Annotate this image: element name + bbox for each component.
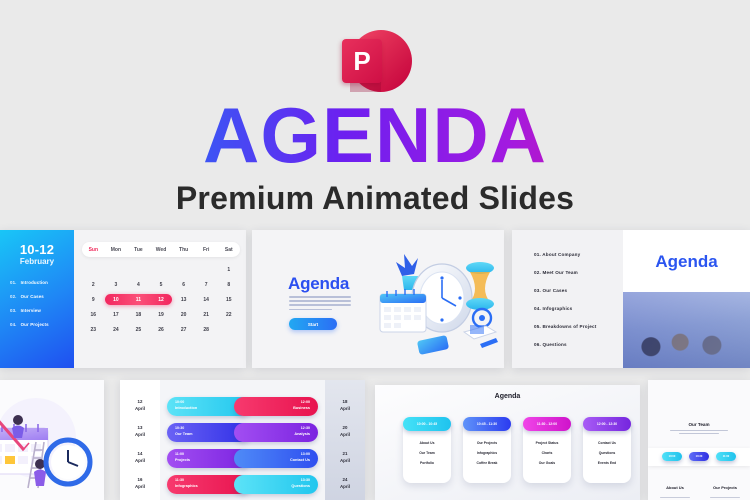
- calendar-agenda-list: 01. Introduction 02. Our Cases 03. Inter…: [10, 280, 74, 336]
- item-label: Introduction: [21, 280, 48, 285]
- card-time-header: 12:00 - 12:30: [583, 417, 631, 431]
- powerpoint-tab: P: [342, 39, 382, 83]
- day-cell[interactable]: 15: [217, 297, 240, 303]
- agenda-card[interactable]: 11:30 - 12:00 Project Status Charts Our …: [523, 421, 571, 483]
- card-item[interactable]: Questions: [583, 451, 631, 455]
- team-footer-item[interactable]: Our Projects: [704, 476, 746, 500]
- item-number: 02.: [10, 294, 17, 299]
- timeline-row[interactable]: 13:00 Contact Us 21 April: [120, 446, 365, 470]
- day-cell[interactable]: 5: [150, 282, 173, 288]
- team-pill[interactable]: 10:00: [662, 452, 682, 461]
- list-item[interactable]: 05. Breakdowns of Project: [534, 324, 596, 329]
- day-cell-selected[interactable]: 10: [105, 297, 128, 303]
- timeline-date: 21 April: [325, 451, 365, 464]
- date-month: April: [340, 484, 350, 489]
- weekday-sun: Sun: [82, 247, 105, 253]
- timeline-date: 18 April: [325, 399, 365, 412]
- agenda-items-list: 01. About Company 02. Meet Our Team 03. …: [534, 252, 596, 360]
- calendar-week-row: 23 24 25 26 27 28: [82, 322, 240, 337]
- calendar-panel: Sun Mon Tue Wed Thu Fri Sat 1: [74, 230, 246, 368]
- calendar-icon: [380, 289, 426, 332]
- day-cell[interactable]: 21: [195, 312, 218, 318]
- day-cell[interactable]: 7: [195, 282, 218, 288]
- clock-icon: [46, 440, 90, 484]
- month-label: February: [0, 257, 74, 266]
- item-label: Our Projects: [21, 322, 49, 327]
- list-item[interactable]: 02. Our Cases: [10, 294, 74, 299]
- list-item[interactable]: 04. Our Projects: [10, 322, 74, 327]
- agenda-list-slide[interactable]: 01. About Company 02. Meet Our Team 03. …: [512, 230, 750, 368]
- day-cell[interactable]: 9: [82, 297, 105, 303]
- calendar-slide-sidebar: 10-12 February 01. Introduction 02. Our …: [0, 230, 74, 368]
- day-cell[interactable]: 18: [127, 312, 150, 318]
- footer-label: Our Projects: [713, 485, 737, 490]
- pen-icon: [480, 338, 498, 348]
- our-team-slide[interactable]: Our Team 10:00 10:30 11:00 About Us Our …: [648, 380, 750, 500]
- card-item[interactable]: About Us: [403, 441, 451, 445]
- item-number: 03.: [10, 308, 17, 313]
- timeline-row[interactable]: 13:30 Questions 24 April: [120, 472, 365, 496]
- day-cell[interactable]: 14: [195, 297, 218, 303]
- day-cell[interactable]: 19: [150, 312, 173, 318]
- date-month: April: [340, 406, 350, 411]
- list-item[interactable]: 01. Introduction: [10, 280, 74, 285]
- timeline-label: Contact Us: [290, 458, 310, 462]
- card-item[interactable]: Events End: [583, 461, 631, 465]
- weekday-sat: Sat: [217, 247, 240, 253]
- day-cell[interactable]: 8: [217, 282, 240, 288]
- date-month: April: [340, 432, 350, 437]
- slide-title: Our Team: [648, 422, 750, 427]
- weekday-thu: Thu: [172, 247, 195, 253]
- day-cell[interactable]: 27: [172, 327, 195, 333]
- date-day: 20: [343, 425, 348, 430]
- agenda-card[interactable]: 10:00 - 10:45 About Us Our Team Portfoli…: [403, 421, 451, 483]
- hero-section: P AGENDA Premium Animated Slides: [0, 0, 750, 228]
- agenda-cards-row: 10:00 - 10:45 About Us Our Team Portfoli…: [403, 421, 631, 483]
- timeline-pill[interactable]: 12:00 Business: [234, 397, 318, 416]
- slide-title: Agenda: [288, 274, 349, 294]
- timeline-date: 24 April: [325, 477, 365, 490]
- list-item[interactable]: 03. Interview: [10, 308, 74, 313]
- card-item[interactable]: Contact Us: [583, 441, 631, 445]
- day-cell[interactable]: 24: [105, 327, 128, 333]
- timeline-row[interactable]: 12:30 Analysis 20 April: [120, 420, 365, 444]
- day-cell[interactable]: 1: [217, 267, 240, 273]
- agenda-photo-panel: Agenda: [623, 230, 750, 368]
- weekday-mon: Mon: [105, 247, 128, 253]
- calendar-slide[interactable]: 10-12 February 01. Introduction 02. Our …: [0, 230, 246, 368]
- day-cell[interactable]: 23: [82, 327, 105, 333]
- weekday-fri: Fri: [195, 247, 218, 253]
- list-item[interactable]: 03. Our Cases: [534, 288, 596, 293]
- day-cell[interactable]: 4: [127, 282, 150, 288]
- list-item[interactable]: 01. About Company: [534, 252, 596, 257]
- list-item[interactable]: 04. Infographics: [534, 306, 596, 311]
- calendar-weekday-header: Sun Mon Tue Wed Thu Fri Sat: [82, 242, 240, 257]
- item-label: Interview: [21, 308, 41, 313]
- team-footer-item[interactable]: About Us: [654, 476, 696, 500]
- day-cell-selected[interactable]: 11: [127, 297, 150, 303]
- day-cell-selected[interactable]: 12: [150, 297, 173, 303]
- calendar-week-row: 1: [82, 262, 240, 277]
- card-item[interactable]: Our Goals: [523, 461, 571, 465]
- body-text-placeholder: [670, 430, 728, 436]
- card-item[interactable]: Infographics: [463, 451, 511, 455]
- day-cell[interactable]: 3: [105, 282, 128, 288]
- list-item[interactable]: 02. Meet Our Team: [534, 270, 596, 275]
- card-item[interactable]: Charts: [523, 451, 571, 455]
- weekday-tue: Tue: [127, 247, 150, 253]
- card-items: Contact Us Questions Events End: [583, 441, 631, 471]
- agenda-card[interactable]: 10:45 - 11:30 Our Projects Infographics …: [463, 421, 511, 483]
- card-item[interactable]: Coffee Break: [463, 461, 511, 465]
- day-cell[interactable]: 20: [172, 312, 195, 318]
- weekday-wed: Wed: [150, 247, 173, 253]
- timeline-label: Business: [293, 406, 310, 410]
- agenda-illustration: [360, 246, 500, 358]
- calendar-clock-illustration: [0, 380, 104, 500]
- card-item[interactable]: Portfolio: [403, 461, 451, 465]
- timeline-slide[interactable]: 12 April 10:00 Introduction 13 April 10:…: [120, 380, 365, 500]
- item-label: Our Cases: [21, 294, 44, 299]
- day-cell[interactable]: 2: [82, 282, 105, 288]
- powerpoint-letter: P: [353, 48, 370, 74]
- date-day: 21: [343, 451, 348, 456]
- day-cell[interactable]: 22: [217, 312, 240, 318]
- poster-canvas: P AGENDA Premium Animated Slides 10-12 F…: [0, 0, 750, 500]
- timeline-pill[interactable]: 12:30 Analysis: [234, 423, 318, 442]
- gear-icon: [473, 309, 491, 327]
- agenda-illustration-slide[interactable]: Agenda Start: [252, 230, 504, 368]
- card-items: About Us Our Team Portfolio: [403, 441, 451, 471]
- day-cell[interactable]: 16: [82, 312, 105, 318]
- item-number: 04.: [10, 322, 17, 327]
- card-time-header: 10:45 - 11:30: [463, 417, 511, 431]
- powerpoint-icon: P: [338, 28, 412, 94]
- calendar-grid: 1 2 3 4 5 6 7 8 9 10 11 12 13: [82, 262, 240, 337]
- day-cell[interactable]: 13: [172, 297, 195, 303]
- highlighted-day: [5, 456, 15, 464]
- timeline-row[interactable]: 12:00 Business 18 April: [120, 394, 365, 418]
- date-day: 24: [343, 477, 348, 482]
- timeline-label: Questions: [291, 484, 310, 488]
- day-cell[interactable]: 6: [172, 282, 195, 288]
- card-time-header: 11:30 - 12:00: [523, 417, 571, 431]
- card-item[interactable]: Project Status: [523, 441, 571, 445]
- day-cell[interactable]: 28: [195, 327, 218, 333]
- timeline-pill[interactable]: 13:00 Contact Us: [234, 449, 318, 468]
- page-subtitle: Premium Animated Slides: [0, 180, 750, 217]
- day-cell[interactable]: 25: [127, 327, 150, 333]
- agenda-cards-slide[interactable]: Agenda 10:00 - 10:45 About Us Our Team P…: [375, 385, 640, 500]
- calendar-week-row: 2 3 4 5 6 7 8: [82, 277, 240, 292]
- timeline-date: 20 April: [325, 425, 365, 438]
- team-photo: [623, 292, 750, 368]
- timeline-time: 13:30: [301, 478, 310, 482]
- timeline-label: Analysis: [294, 432, 310, 436]
- start-button[interactable]: Start: [289, 318, 337, 330]
- timeline-time: 12:00: [301, 400, 310, 404]
- day-cell[interactable]: 26: [150, 327, 173, 333]
- date-month: April: [340, 458, 350, 463]
- footer-label: About Us: [666, 485, 684, 490]
- book-icon: [464, 325, 496, 339]
- agenda-card[interactable]: 12:00 - 12:30 Contact Us Questions Event…: [583, 421, 631, 483]
- body-text-placeholder: [289, 296, 351, 313]
- list-item[interactable]: 06. Questions: [534, 342, 596, 347]
- team-pill[interactable]: 11:00: [716, 452, 736, 461]
- calendar-week-row: 16 17 18 19 20 21 22: [82, 307, 240, 322]
- card-items: Project Status Charts Our Goals: [523, 441, 571, 471]
- card-item[interactable]: Our Team: [403, 451, 451, 455]
- phone-icon: [417, 335, 449, 355]
- team-pill[interactable]: 10:30: [689, 452, 709, 461]
- calendar-week-row-highlighted: 9 10 11 12 13 14 15: [82, 292, 240, 307]
- card-time-header: 10:00 - 10:45: [403, 417, 451, 431]
- calendar-clock-illustration-slide[interactable]: [0, 380, 104, 500]
- day-cell[interactable]: 17: [105, 312, 128, 318]
- timeline-pill[interactable]: 13:30 Questions: [234, 475, 318, 494]
- card-items: Our Projects Infographics Coffee Break: [463, 441, 511, 471]
- slide-title: Agenda: [623, 252, 750, 272]
- item-number: 01.: [10, 280, 17, 285]
- page-title: AGENDA: [0, 96, 750, 174]
- slide-title: Agenda: [375, 393, 640, 400]
- timeline-time: 13:00: [301, 452, 310, 456]
- timeline-time: 12:30: [301, 426, 310, 430]
- date-range: 10-12: [0, 242, 74, 257]
- date-day: 18: [343, 399, 348, 404]
- card-item[interactable]: Our Projects: [463, 441, 511, 445]
